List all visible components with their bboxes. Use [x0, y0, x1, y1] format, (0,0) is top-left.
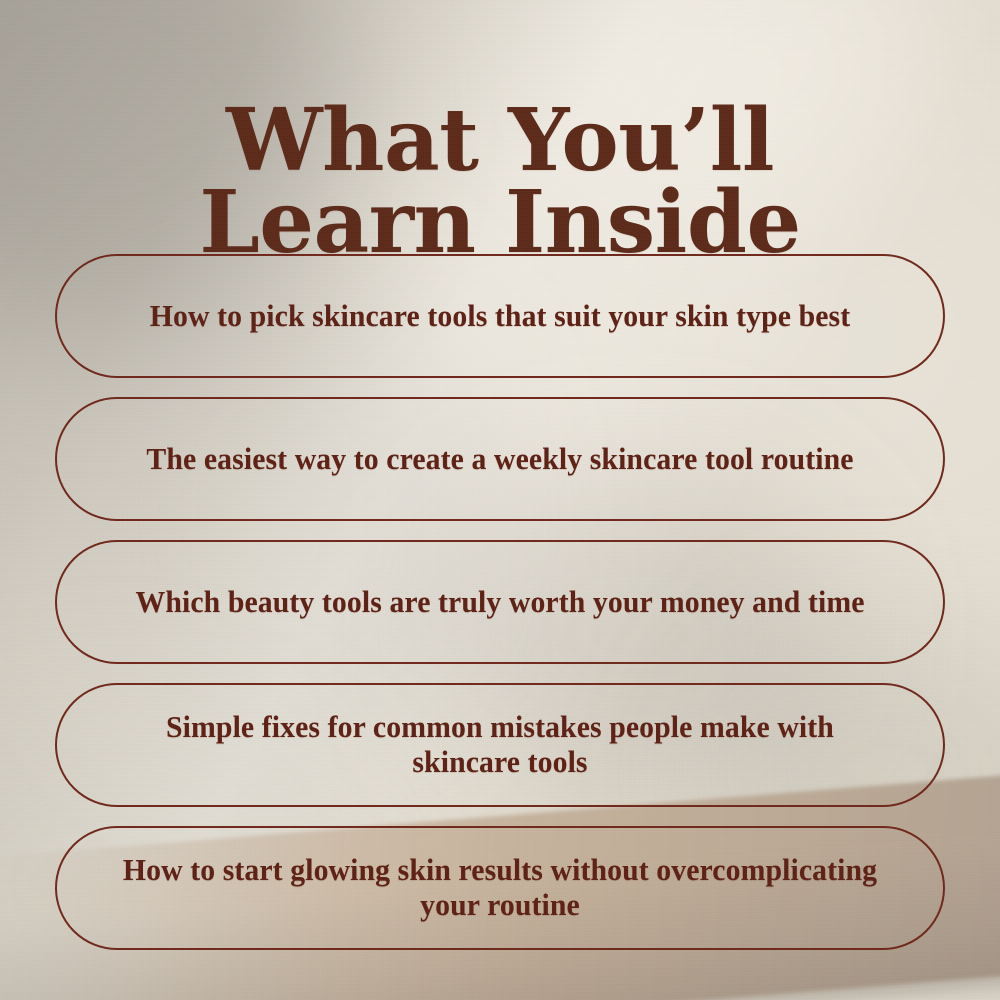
list-item-label: Which beauty tools are truly worth your … — [119, 585, 881, 620]
list-item[interactable]: Which beauty tools are truly worth your … — [55, 540, 945, 664]
list-item[interactable]: The easiest way to create a weekly skinc… — [55, 397, 945, 521]
page-title: What You’ll Learn Inside — [0, 100, 1000, 265]
list-item-label: How to start glowing skin results withou… — [119, 853, 881, 922]
list-item[interactable]: Simple fixes for common mistakes people … — [55, 683, 945, 807]
poster-canvas: What You’ll Learn Inside How to pick ski… — [0, 0, 1000, 1000]
list-item[interactable]: How to start glowing skin results withou… — [55, 826, 945, 950]
list-item[interactable]: How to pick skincare tools that suit you… — [55, 254, 945, 378]
poster-content: What You’ll Learn Inside How to pick ski… — [0, 0, 1000, 1000]
list-item-label: Simple fixes for common mistakes people … — [119, 710, 881, 779]
benefit-list: How to pick skincare tools that suit you… — [55, 254, 945, 950]
list-item-label: How to pick skincare tools that suit you… — [119, 299, 881, 334]
list-item-label: The easiest way to create a weekly skinc… — [119, 442, 881, 477]
